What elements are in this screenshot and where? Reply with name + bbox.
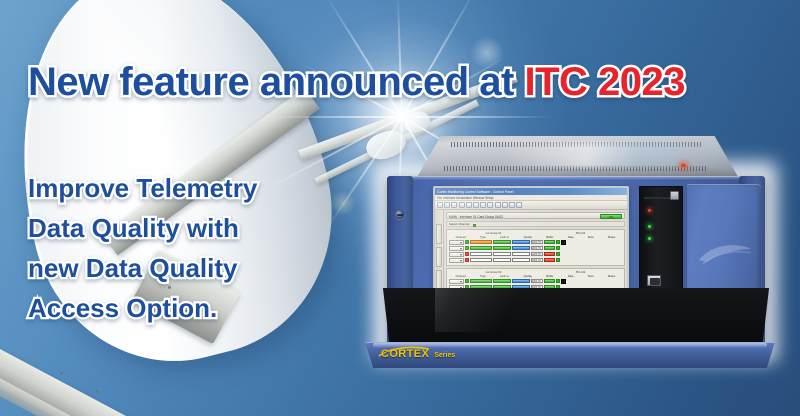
buffer-bar (493, 279, 511, 284)
col-channel: Channel (456, 236, 466, 239)
status-indicator (556, 252, 560, 256)
toolbar-icon-new[interactable] (437, 202, 443, 208)
correction-indicator (544, 258, 555, 263)
col-type: Type (480, 236, 486, 239)
data-bar (512, 258, 530, 263)
lock-indicator (465, 240, 469, 244)
table-row[interactable]: 2000 Hz (449, 279, 623, 284)
channel-type-select[interactable] (449, 246, 464, 251)
toolbar-icon-settings[interactable] (509, 202, 515, 208)
side-tab-2[interactable] (436, 247, 442, 267)
panel-title-left: Lot Group 01 (486, 232, 502, 235)
buffer-bar (493, 258, 511, 263)
product-logo-name: CORTEX (381, 349, 429, 360)
panel-column-headers: Channel Type Lock st. Quality Buffer Dat… (449, 275, 623, 278)
col-flow: Flow (588, 236, 594, 239)
channel-type-select[interactable] (449, 258, 464, 263)
toolbar-icon-paste[interactable] (480, 202, 486, 208)
quality-bar (470, 240, 492, 245)
panel-headers: Lot Group 02 PCU-02 (449, 271, 623, 274)
quality-bar (470, 246, 492, 251)
col-quality: Quality (524, 275, 532, 278)
table-row[interactable]: 2000 Hz (449, 246, 623, 251)
toolbar-icon-open[interactable] (444, 202, 450, 208)
headline-accent: ITC 2023 (524, 60, 685, 104)
product-logo: CORTEX Series (381, 349, 455, 360)
toolbar-icon-print[interactable] (459, 202, 465, 208)
data-bar (512, 279, 530, 284)
subheadline-line-1: Improve Telemetry (28, 168, 257, 208)
usb-port[interactable] (647, 275, 661, 286)
flow-value: 2000 Hz (531, 279, 543, 284)
subheadline: Improve Telemetry Data Quality with new … (28, 168, 257, 328)
correction-indicator (544, 279, 555, 284)
table-row[interactable]: 1200 Hz (449, 252, 623, 257)
software-menu-bar[interactable]: File Interface Modulation Window Setup (435, 195, 627, 201)
quality-bar (470, 252, 492, 257)
chassis-base-bar: CORTEX Series (365, 342, 775, 368)
col-data: Data (568, 236, 574, 239)
data-bar (512, 240, 530, 245)
col-status: Status (608, 236, 616, 239)
channel-group-panel: Lot Group 01 PCU-01 Channel Type Lock st… (446, 229, 625, 266)
top-plate-reflection (501, 142, 751, 168)
status-badge-text: ON (601, 215, 621, 218)
strut-bolt (96, 390, 99, 393)
drive-eject-button[interactable] (670, 191, 679, 200)
network-led (648, 237, 651, 240)
status-bar-label: MAIN : Interface 01 Card Group 01/02 (449, 214, 503, 220)
panel-headers: Lot Group 01 PCU-01 (449, 232, 623, 235)
quality-bar (470, 258, 492, 263)
subheadline-line-3: new Data Quality (28, 248, 257, 288)
channel-selector[interactable]: Select Channel (446, 221, 625, 227)
side-tab-3[interactable] (436, 270, 442, 290)
col-lock: Lock st. (500, 236, 509, 239)
col-status: Status (608, 275, 616, 278)
data-bar (512, 252, 530, 257)
software-status-bar: MAIN : Interface 01 Card Group 01/02 ON (446, 212, 625, 219)
software-toolbar[interactable] (435, 201, 627, 210)
buffer-bar (493, 240, 511, 245)
col-channel: Channel (456, 275, 466, 278)
toolbar-icon-help[interactable] (516, 202, 522, 208)
software-window-title: Cortex Monitoring Control Software - Con… (437, 189, 514, 195)
face-bevel (387, 176, 765, 180)
sun-ray (402, 116, 552, 118)
subheadline-line-4: Access Option. (28, 288, 257, 328)
software-menu-items: File Interface Modulation Window Setup (437, 195, 493, 201)
data-bar (512, 246, 530, 251)
software-title-bar: Cortex Monitoring Control Software - Con… (435, 188, 627, 195)
correction-indicator (544, 246, 555, 251)
channel-type-select[interactable] (449, 252, 464, 257)
headline-main: New feature announced at (28, 60, 524, 104)
col-flow: Flow (588, 275, 594, 278)
base-highlight (373, 343, 767, 348)
quality-bar (470, 279, 492, 284)
panel-title-left: Lot Group 02 (486, 271, 502, 274)
row-action-button[interactable] (561, 240, 566, 245)
sun-core (399, 113, 405, 119)
buffer-bar (493, 252, 511, 257)
channel-selector-indicator (473, 224, 476, 227)
col-buffer: Buffer (546, 275, 553, 278)
panel-title-right: PCU-01 (576, 232, 586, 235)
toolbar-icon-zoom[interactable] (502, 202, 508, 208)
cortex-swoosh-icon (697, 240, 753, 266)
col-buffer: Buffer (546, 236, 553, 239)
lock-indicator (465, 246, 469, 250)
toolbar-icon-cut[interactable] (466, 202, 472, 208)
flow-value: 1200 Hz (531, 258, 543, 263)
toolbar-icon-copy[interactable] (473, 202, 479, 208)
status-indicator (556, 240, 560, 244)
toolbar-icon-redo[interactable] (495, 202, 501, 208)
side-tab-1[interactable] (436, 224, 442, 244)
lock-indicator (465, 252, 469, 256)
chassis-status-led (681, 164, 686, 167)
channel-selector-label: Select Channel (449, 222, 469, 228)
panel-title-right: PCU-02 (576, 271, 586, 274)
correction-indicator (544, 252, 555, 257)
col-type: Type (480, 275, 486, 278)
promo-banner: Cortex Monitoring Control Software - Con… (0, 0, 800, 416)
toolbar-icon-save[interactable] (451, 202, 457, 208)
power-led (648, 209, 651, 212)
flow-value: 2000 Hz (531, 240, 543, 245)
status-badge: ON (600, 214, 622, 219)
channel-type-select[interactable] (449, 279, 464, 284)
sun-ray (272, 116, 402, 118)
activity-led (648, 225, 651, 228)
rack-screw (395, 210, 404, 219)
headline: New feature announced at ITC 2023 (28, 58, 685, 106)
table-row[interactable]: 2000 Hz (449, 240, 623, 245)
status-indicator (556, 246, 560, 250)
cortex-rackmount-computer: Cortex Monitoring Control Software - Con… (357, 136, 787, 374)
product-logo-series: Series (434, 352, 455, 360)
col-lock: Lock st. (500, 275, 509, 278)
flow-value: 1200 Hz (531, 252, 543, 257)
toolbar-icon-undo[interactable] (487, 202, 493, 208)
correction-indicator (544, 240, 555, 245)
subheadline-line-2: Data Quality with (28, 208, 257, 248)
table-row[interactable]: 1200 Hz (449, 258, 623, 263)
col-quality: Quality (524, 236, 532, 239)
flow-value: 2000 Hz (531, 246, 543, 251)
buffer-bar (493, 246, 511, 251)
col-data: Data (568, 275, 574, 278)
strut-bolt (60, 372, 63, 375)
lock-indicator (465, 279, 469, 283)
status-indicator (556, 279, 560, 283)
row-action-button[interactable] (561, 279, 566, 284)
status-indicator (556, 258, 560, 262)
panel-column-headers: Channel Type Lock st. Quality Buffer Dat… (449, 236, 623, 239)
channel-type-select[interactable] (449, 240, 464, 245)
lock-indicator (465, 258, 469, 262)
